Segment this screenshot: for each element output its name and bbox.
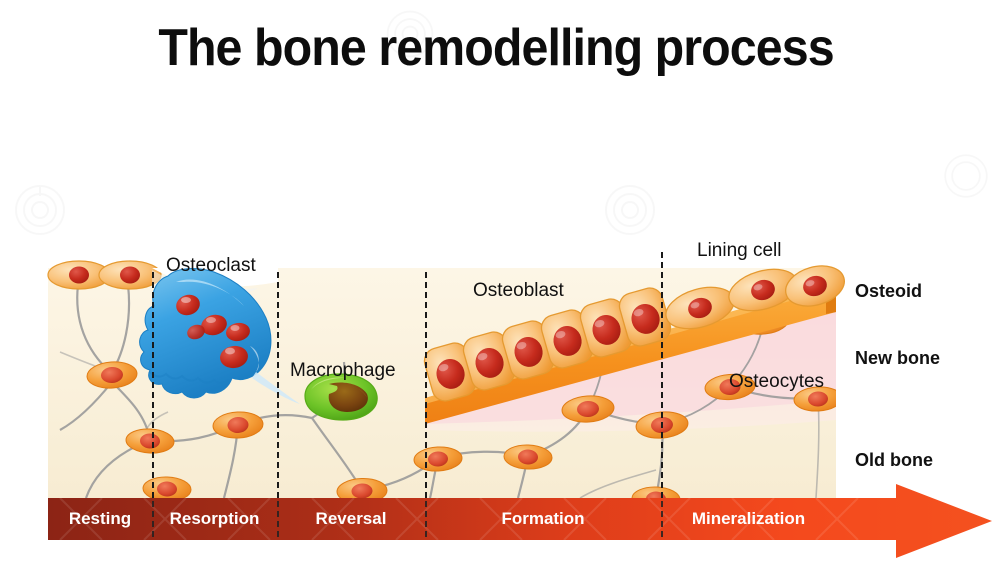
diagram-canvas: The bone remodelling process: [0, 0, 992, 585]
stage-label-reversal[interactable]: Reversal: [277, 498, 425, 540]
label-osteoid: Osteoid: [855, 281, 922, 302]
stage-label-mineralization[interactable]: Mineralization: [661, 498, 836, 540]
stage-divider: [152, 272, 154, 498]
stage-divider: [661, 252, 663, 498]
label-lining-cell: Lining cell: [697, 240, 782, 262]
label-macrophage: Macrophage: [290, 360, 396, 382]
stage-label-resorption[interactable]: Resorption: [152, 498, 277, 540]
stage-divider: [277, 272, 279, 498]
stage-divider: [425, 272, 427, 498]
stage-bar: Resting Resorption Reversal Formation Mi…: [48, 498, 992, 540]
label-osteocytes: Osteocytes: [729, 371, 824, 393]
stage-label-formation[interactable]: Formation: [425, 498, 661, 540]
label-old-bone: Old bone: [855, 450, 933, 471]
label-osteoblast: Osteoblast: [473, 280, 564, 302]
label-new-bone: New bone: [855, 348, 940, 369]
stage-label-resting[interactable]: Resting: [48, 498, 152, 540]
label-osteoclast: Osteoclast: [166, 255, 256, 277]
